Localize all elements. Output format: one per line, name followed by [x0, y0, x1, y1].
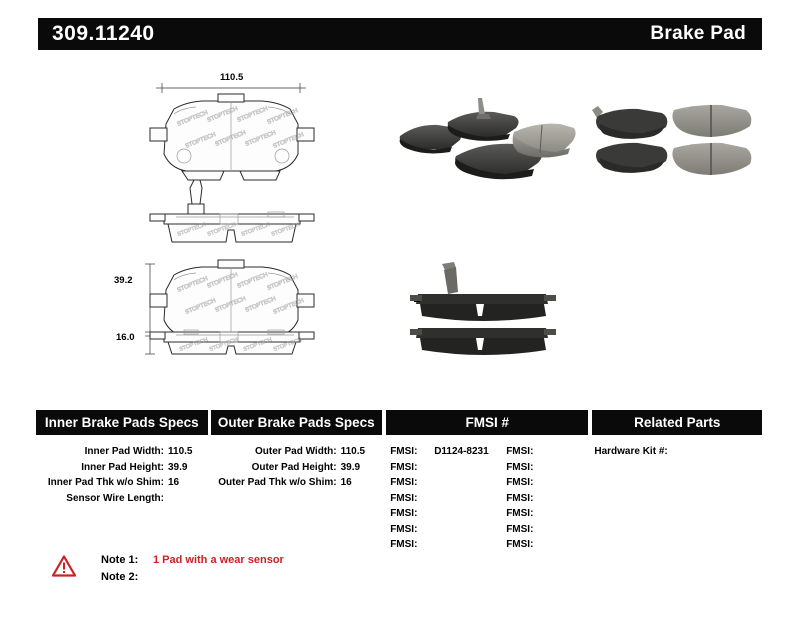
photo-pads-side-pair — [398, 254, 573, 364]
fmsi-row: FMSI: FMSI: — [382, 506, 582, 522]
note-row: Note 1: 1 Pad with a wear sensor — [101, 552, 284, 569]
outer-pad-edge-view: STOPTECH STOPTECH STOPTECH STOPTECH — [116, 320, 416, 380]
spec-row: Inner Pad Height: 39.9 — [36, 460, 206, 476]
note-2-text — [149, 569, 153, 586]
inner-pad-width-value: 110.5 — [164, 444, 206, 460]
outer-pad-thickness-value: 16 — [337, 475, 379, 491]
fmsi-label-right: FMSI: — [506, 537, 550, 553]
spec-table-body: Inner Pad Width: 110.5 Inner Pad Height:… — [36, 435, 762, 553]
note-lines: Note 1: 1 Pad with a wear sensor Note 2: — [101, 552, 284, 586]
related-parts-column: Hardware Kit #: — [586, 444, 762, 553]
outer-pad-height-value: 39.9 — [337, 460, 379, 476]
inner-pad-width-label: Inner Pad Width: — [36, 444, 164, 460]
title-bar: 309.11240 Brake Pad — [38, 18, 762, 50]
sensor-wire-length-value — [164, 491, 206, 507]
fmsi-value-left: D1124-8231 — [434, 444, 506, 460]
fmsi-label-right: FMSI: — [506, 460, 550, 476]
side-edge-view-with-sensor: STOPTECH STOPTECH STOPTECH STOPTECH — [116, 174, 416, 254]
inner-pad-thickness-value: 16 — [164, 475, 206, 491]
hardware-kit-row: Hardware Kit #: — [594, 444, 762, 460]
spec-row: Sensor Wire Length: — [36, 491, 206, 507]
fmsi-label-right: FMSI: — [506, 506, 550, 522]
fmsi-value-left — [434, 522, 506, 538]
product-type: Brake Pad — [650, 23, 746, 45]
inner-specs-column: Inner Pad Width: 110.5 Inner Pad Height:… — [36, 444, 206, 553]
fmsi-label-left: FMSI: — [390, 522, 434, 538]
header-outer-specs: Outer Brake Pads Specs — [211, 410, 383, 435]
fmsi-row: FMSI: FMSI: — [382, 460, 582, 476]
fmsi-value-left — [434, 491, 506, 507]
outer-pad-height-label: Outer Pad Height: — [209, 460, 337, 476]
spec-row: Outer Pad Width: 110.5 — [209, 444, 379, 460]
fmsi-column: FMSI: D1124-8231 FMSI: FMSI: FMSI: FMSI:… — [382, 444, 582, 553]
photo-pads-angled-group — [390, 94, 580, 189]
hardware-kit-label: Hardware Kit #: — [594, 446, 667, 457]
header-related-parts: Related Parts — [592, 410, 762, 435]
fmsi-label-left: FMSI: — [390, 506, 434, 522]
spec-row: Outer Pad Height: 39.9 — [209, 460, 379, 476]
outer-pad-thickness-label: Outer Pad Thk w/o Shim: — [209, 475, 337, 491]
fmsi-value-left — [434, 506, 506, 522]
note-row: Note 2: — [101, 569, 284, 586]
fmsi-row: FMSI: D1124-8231 FMSI: — [382, 444, 582, 460]
note-1-text: 1 Pad with a wear sensor — [149, 552, 284, 569]
fmsi-row: FMSI: FMSI: — [382, 522, 582, 538]
fmsi-row: FMSI: FMSI: — [382, 491, 582, 507]
outer-pad-width-value: 110.5 — [337, 444, 379, 460]
header-inner-specs: Inner Brake Pads Specs — [36, 410, 208, 435]
fmsi-value-left — [434, 475, 506, 491]
inner-pad-thickness-label: Inner Pad Thk w/o Shim: — [36, 475, 164, 491]
spec-row: Outer Pad Thk w/o Shim: 16 — [209, 475, 379, 491]
fmsi-label-right: FMSI: — [506, 475, 550, 491]
inner-pad-height-label: Inner Pad Height: — [36, 460, 164, 476]
fmsi-value-left — [434, 537, 506, 553]
fmsi-row: FMSI: FMSI: — [382, 475, 582, 491]
outer-pad-width-label: Outer Pad Width: — [209, 444, 337, 460]
spec-row: Inner Pad Thk w/o Shim: 16 — [36, 475, 206, 491]
note-2-label: Note 2: — [101, 569, 149, 586]
spec-row: Inner Pad Width: 110.5 — [36, 444, 206, 460]
fmsi-label-right: FMSI: — [506, 444, 550, 460]
drawing-area: 110.5 39.2 16.0 STOPTECH STOPTECH STOPTE… — [38, 62, 762, 392]
fmsi-row: FMSI: FMSI: — [382, 537, 582, 553]
spec-table: Inner Brake Pads Specs Outer Brake Pads … — [36, 410, 762, 553]
note-1-label: Note 1: — [101, 552, 149, 569]
photo-pads-top-grid — [570, 94, 770, 186]
fmsi-label-left: FMSI: — [390, 460, 434, 476]
header-fmsi: FMSI # — [386, 410, 588, 435]
fmsi-label-left: FMSI: — [390, 537, 434, 553]
fmsi-label-left: FMSI: — [390, 491, 434, 507]
fmsi-label-left: FMSI: — [390, 475, 434, 491]
fmsi-label-right: FMSI: — [506, 491, 550, 507]
outer-specs-column: Outer Pad Width: 110.5 Outer Pad Height:… — [209, 444, 379, 553]
sensor-wire-length-label: Sensor Wire Length: — [36, 491, 164, 507]
spec-table-header-row: Inner Brake Pads Specs Outer Brake Pads … — [36, 410, 762, 435]
fmsi-value-left — [434, 460, 506, 476]
warning-triangle-icon — [52, 555, 76, 577]
inner-pad-height-value: 39.9 — [164, 460, 206, 476]
fmsi-label-right: FMSI: — [506, 522, 550, 538]
fmsi-label-left: FMSI: — [390, 444, 434, 460]
part-number: 309.11240 — [52, 22, 155, 46]
notes-section: Note 1: 1 Pad with a wear sensor Note 2: — [52, 552, 284, 586]
